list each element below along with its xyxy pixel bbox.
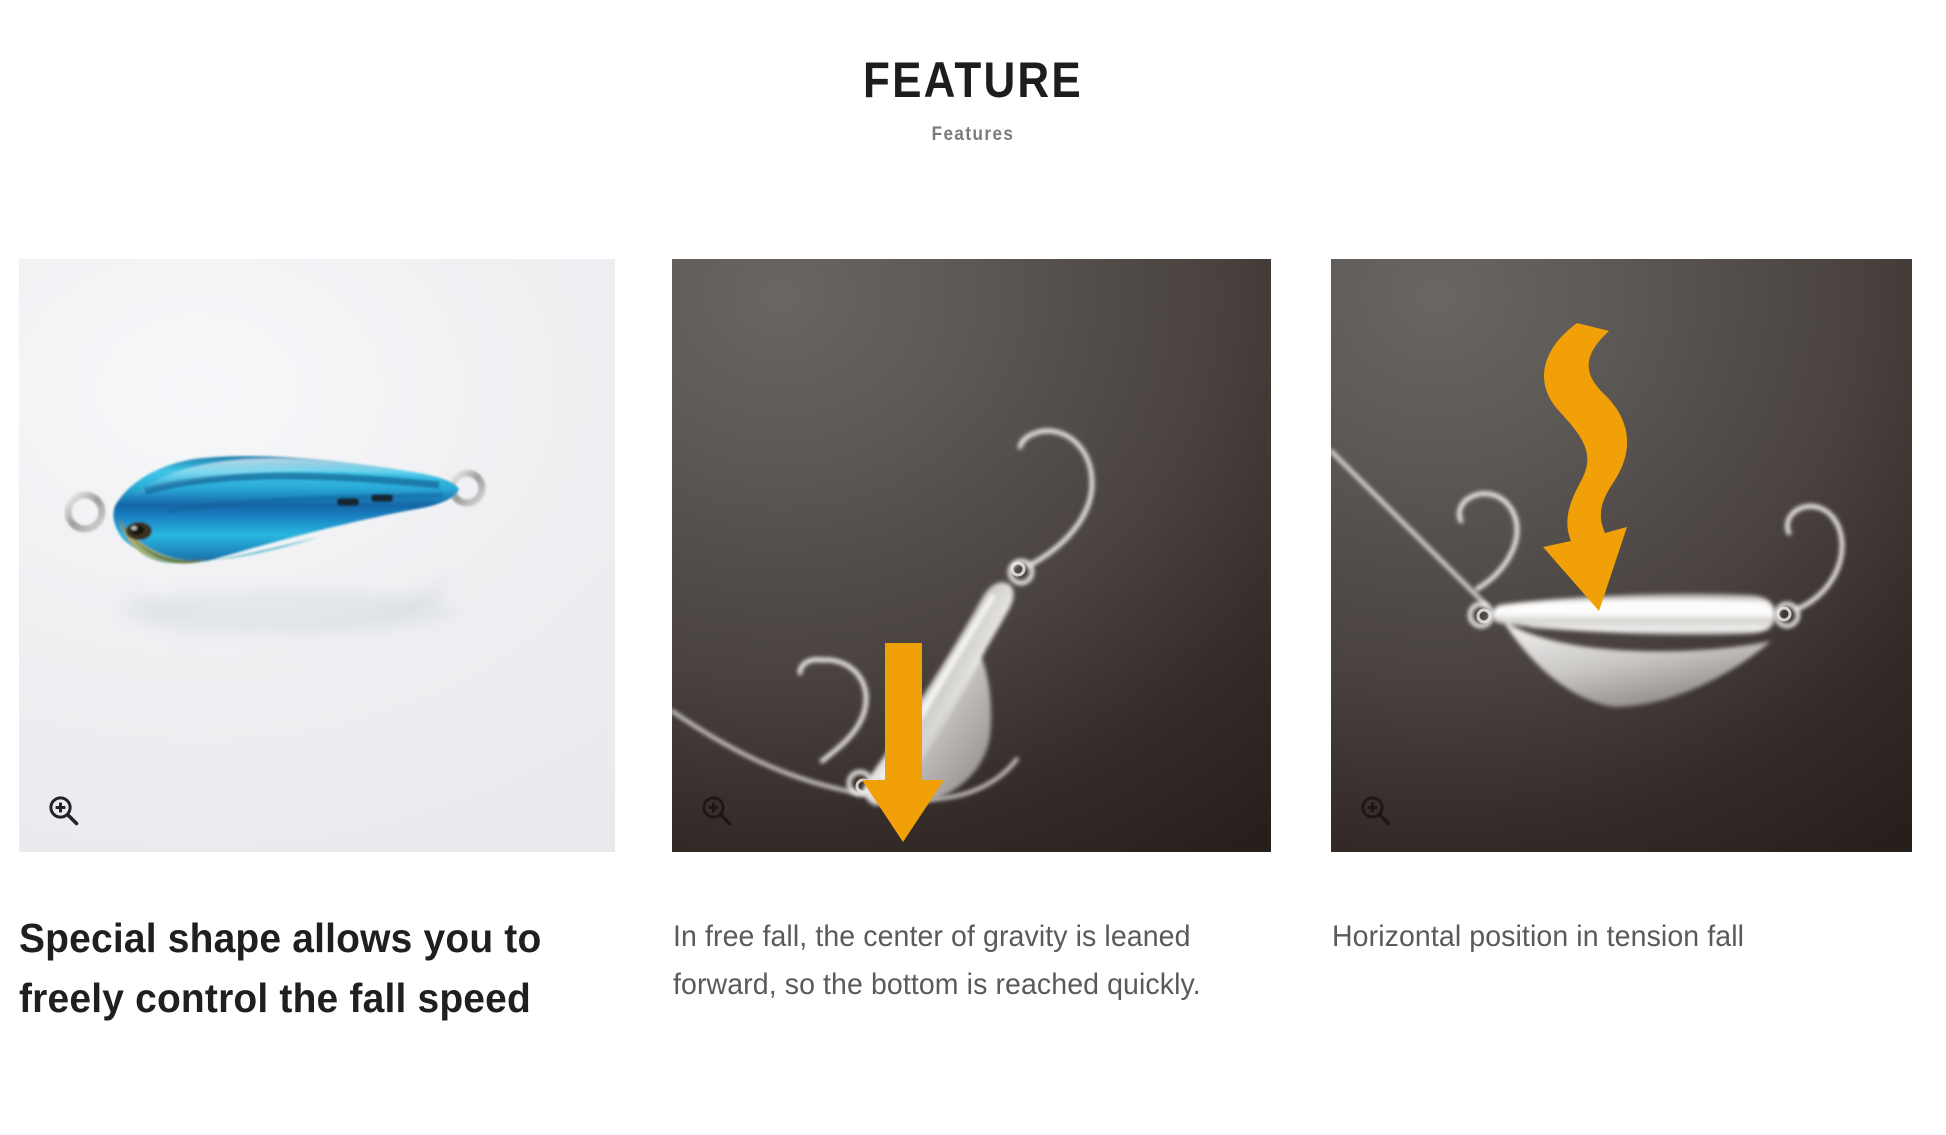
left-hook [1459, 494, 1517, 589]
feature-card-row [0, 259, 1946, 853]
feature-card-tension-fall[interactable] [1331, 259, 1912, 852]
caption-tension-fall: Horizontal position in tension fall [1332, 853, 1912, 961]
caption-text: Horizontal position in tension fall [1332, 853, 1883, 961]
product-photo-media [19, 259, 615, 852]
feature-card-free-fall[interactable] [672, 259, 1271, 852]
right-split-ring [1776, 604, 1798, 626]
magnifier-plus-icon[interactable] [700, 794, 734, 828]
tension-fall-diagram [1331, 259, 1912, 852]
magnifier-plus-icon[interactable] [47, 794, 81, 828]
jig-lure-photo [19, 259, 615, 852]
section-subtitle: Features [97, 108, 1848, 146]
caption-text: In free fall, the center of gravity is l… [673, 853, 1243, 1009]
free-fall-diagram [672, 259, 1271, 852]
caption-product-photo: Special shape allows you to freely contr… [19, 853, 639, 1028]
feature-caption-row: Special shape allows you to freely contr… [0, 853, 1946, 1135]
feature-section: FEATURE Features [0, 0, 1946, 1135]
wavy-down-arrow-icon [1543, 323, 1627, 611]
feature-card-product-photo[interactable] [19, 259, 615, 852]
left-split-ring [1470, 604, 1492, 626]
caption-free-fall: In free fall, the center of gravity is l… [673, 853, 1273, 1009]
section-header: FEATURE Features [0, 0, 1946, 146]
upper-hook [1020, 431, 1092, 565]
magnifier-plus-icon[interactable] [1359, 794, 1393, 828]
tension-fall-diagram-media [1331, 259, 1912, 852]
caption-heading: Special shape allows you to freely contr… [19, 853, 608, 1028]
page-title: FEATURE [117, 0, 1829, 108]
free-fall-diagram-media [672, 259, 1271, 852]
jig-body [1492, 594, 1775, 707]
fishing-line [1331, 451, 1486, 605]
lower-hook [800, 660, 866, 761]
right-hook [1787, 506, 1842, 609]
